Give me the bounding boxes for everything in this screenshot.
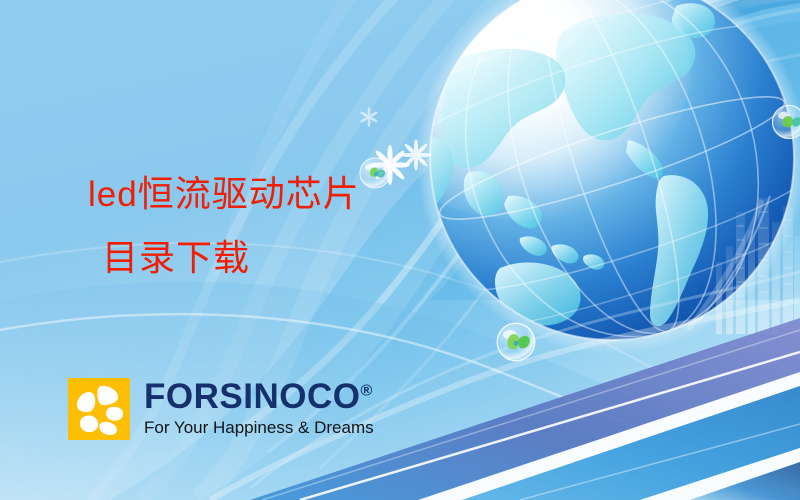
brand-logo-lockup: FORSINOCO® For Your Happiness & Dreams bbox=[68, 378, 374, 440]
forsinoco-logo-mark bbox=[68, 378, 130, 440]
registered-mark-icon: ® bbox=[360, 382, 372, 399]
flower-petal-icon bbox=[68, 378, 130, 440]
logo-wordmark-text: FORSINOCO bbox=[144, 377, 360, 416]
flower-icon bbox=[400, 139, 431, 170]
eco-bubble-icon bbox=[497, 323, 535, 361]
logo-wordmark: FORSINOCO® bbox=[144, 379, 374, 415]
logo-tagline: For Your Happiness & Dreams bbox=[144, 417, 374, 439]
eco-bubble-icon bbox=[773, 106, 800, 139]
slide-canvas: led恒流驱动芯片 目录下载 FORSINOCO® For Your Happi… bbox=[0, 0, 800, 500]
logo-text-block: FORSINOCO® For Your Happiness & Dreams bbox=[144, 378, 374, 439]
